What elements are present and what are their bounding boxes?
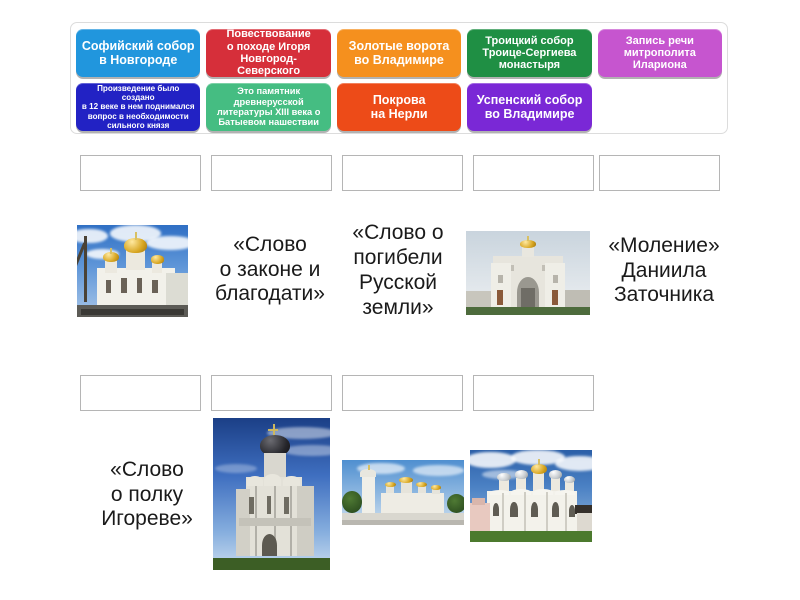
answer-text-slovo-o-zakone[interactable]: «Слово о законе и благодати» bbox=[196, 226, 344, 314]
tile-bank-row-2: Произведение было создано в 12 веке в не… bbox=[76, 83, 722, 131]
tile-zapis-rechi-ilariona[interactable]: Запись речи митрополита Илариона bbox=[598, 29, 722, 77]
tile-pokrova-na-nerli[interactable]: Покрова на Нерли bbox=[337, 83, 461, 131]
dropzone-slot-9[interactable] bbox=[473, 375, 594, 411]
tile-proizvedenie-12-vek[interactable]: Произведение было создано в 12 веке в не… bbox=[76, 83, 200, 131]
dropzone-slot-7[interactable] bbox=[211, 375, 332, 411]
tile-pamyatnik-batyevo-nashestvie[interactable]: Это памятник древнерусской литературы XI… bbox=[206, 83, 330, 131]
answer-image-uspenskiy-sobor[interactable] bbox=[342, 460, 464, 525]
answer-image-sofiyskiy-sobor[interactable] bbox=[470, 450, 592, 542]
activity-stage: Софийский собор в Новгороде Повествовани… bbox=[0, 0, 800, 600]
tile-bank-row-1: Софийский собор в Новгороде Повествовани… bbox=[76, 29, 722, 77]
tile-uspenskiy-sobor-vladimir[interactable]: Успенский собор во Владимире bbox=[467, 83, 591, 131]
tile-bank: Софийский собор в Новгороде Повествовани… bbox=[70, 22, 728, 134]
dropzone-slot-6[interactable] bbox=[80, 375, 201, 411]
answer-text-slovo-o-pogibeli[interactable]: «Слово о погибели Русской земли» bbox=[336, 218, 460, 324]
dropzone-slot-3[interactable] bbox=[342, 155, 463, 191]
answer-image-zolotye-vorota[interactable] bbox=[466, 231, 590, 315]
tile-troitskiy-sobor-monastyr[interactable]: Троицкий собор Троице-Сергиева монастыря bbox=[467, 29, 591, 77]
answer-image-pokrova-na-nerli[interactable] bbox=[213, 418, 330, 570]
tile-sofiyskiy-sobor-novgorod[interactable]: Софийский собор в Новгороде bbox=[76, 29, 200, 77]
answer-text-molenie-daniila[interactable]: «Моление» Даниила Заточника bbox=[594, 232, 734, 310]
dropzone-slot-2[interactable] bbox=[211, 155, 332, 191]
dropzone-slot-5[interactable] bbox=[599, 155, 720, 191]
tile-bank-empty-slot bbox=[598, 83, 722, 131]
dropzone-slot-4[interactable] bbox=[473, 155, 594, 191]
tile-zolotye-vorota-vladimir[interactable]: Золотые ворота во Владимире bbox=[337, 29, 461, 77]
answer-image-troitskiy-sobor[interactable] bbox=[77, 225, 188, 317]
answer-text-slovo-o-polku-igoreve[interactable]: «Слово о полку Игореве» bbox=[86, 452, 208, 538]
tile-povestvovanie-pohod-igorya[interactable]: Повествование о походе Игоря Новгород-Се… bbox=[206, 29, 330, 77]
dropzone-slot-1[interactable] bbox=[80, 155, 201, 191]
dropzone-slot-8[interactable] bbox=[342, 375, 463, 411]
